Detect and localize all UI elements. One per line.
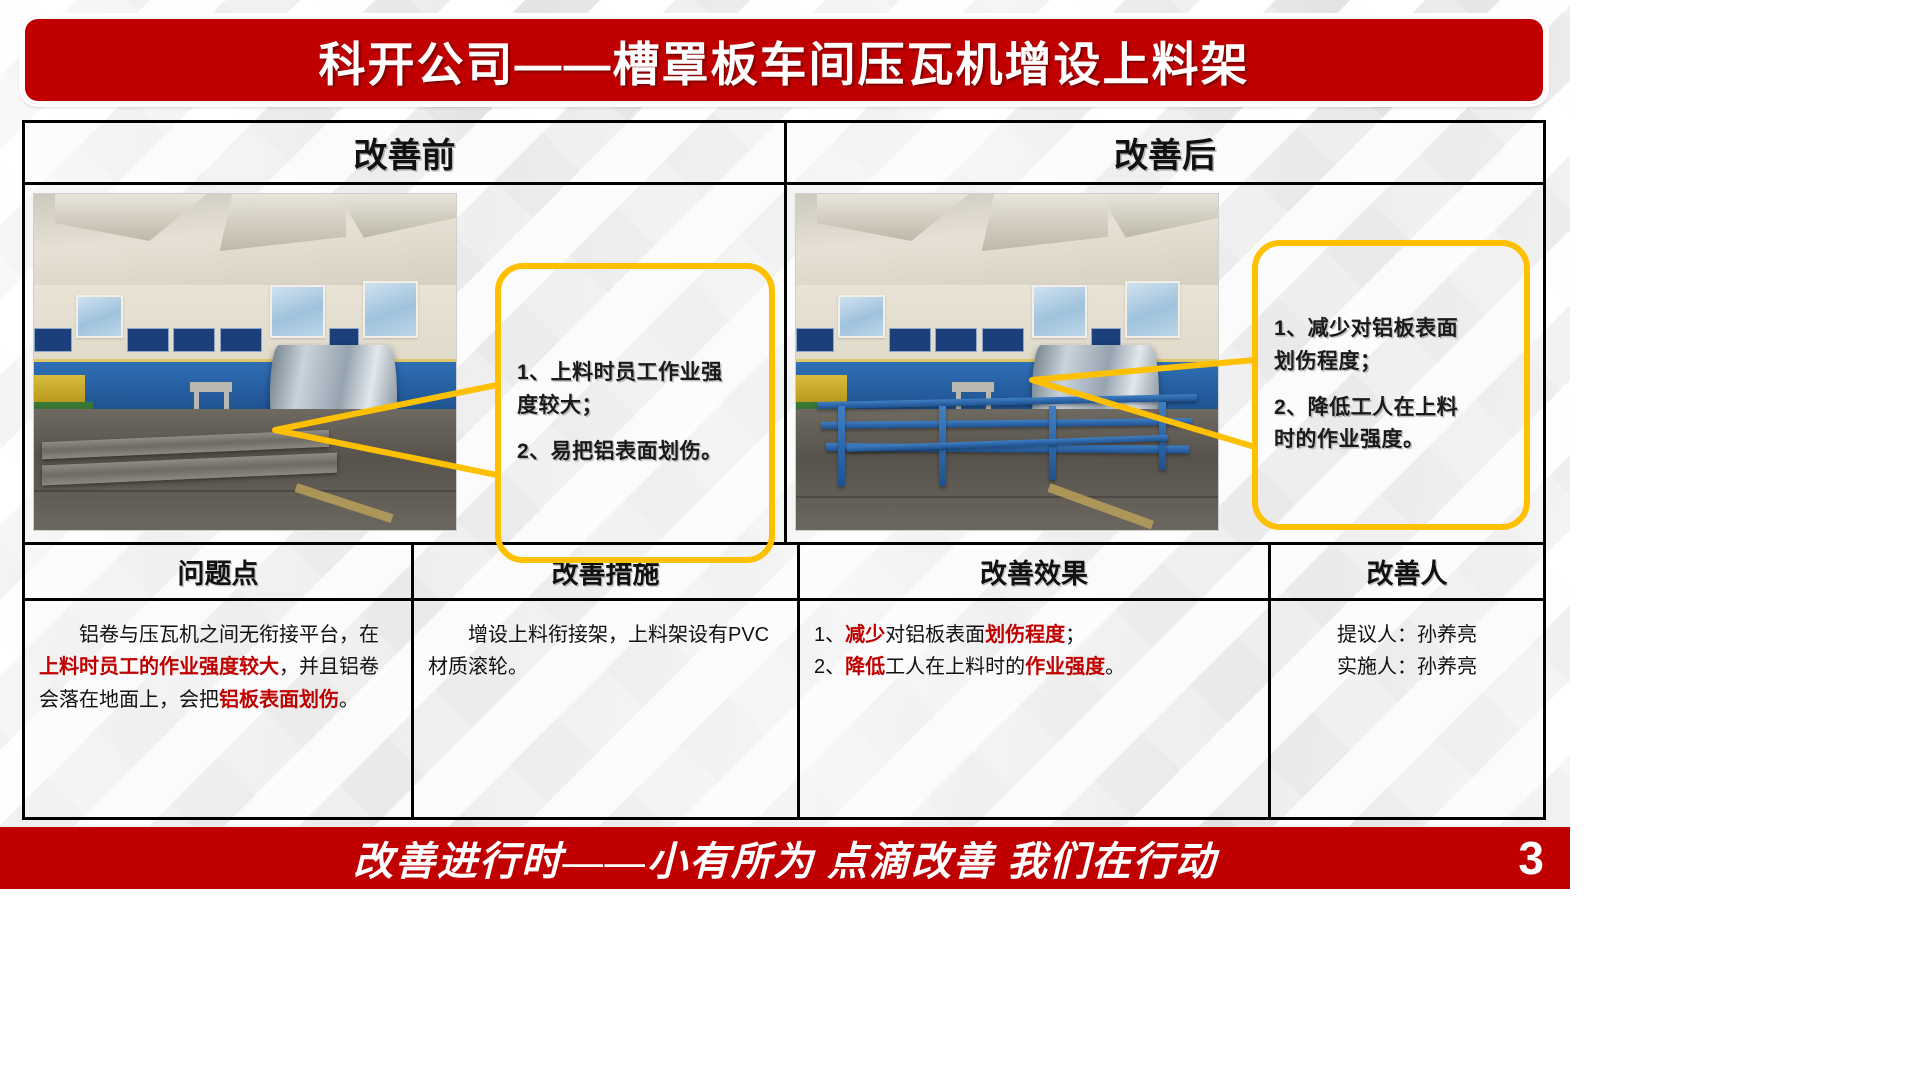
effect-1-num: 1、 (814, 624, 845, 646)
before-callout: 1、上料时员工作业强 度较大； 2、易把铝表面划伤。 (495, 263, 775, 563)
implementer-row: 实施人：孙养亮 (1337, 651, 1477, 683)
proposer-name: 孙养亮 (1417, 624, 1477, 646)
effect-1-mid: 对铝板表面 (885, 624, 985, 646)
person-block: 提议人：孙养亮 实施人：孙养亮 (1337, 619, 1477, 684)
effect-line-2: 2、降低工人在上料时的作业强度。 (814, 651, 1254, 683)
cell-person: 提议人：孙养亮 实施人：孙养亮 (1268, 601, 1543, 817)
before-callout-line-3: 2、易把铝表面划伤。 (517, 437, 753, 467)
measure-text: 增设上料衔接架，上料架设有PVC材质滚轮。 (428, 624, 769, 678)
before-pane: 1、上料时员工作业强 度较大； 2、易把铝表面划伤。 (25, 185, 784, 542)
cell-measure: 增设上料衔接架，上料架设有PVC材质滚轮。 (411, 601, 797, 817)
effect-2-highlight-2: 作业强度 (1025, 656, 1105, 678)
problem-text-highlight-1: 上料时员工的作业强度较大 (39, 656, 279, 678)
problem-text-1: 铝卷与压瓦机之间无衔接平台，在 (79, 624, 379, 646)
footer-banner: 改善进行时——小有所为 点滴改善 我们在行动 3 (0, 827, 1570, 889)
photo-row: 1、上料时员工作业强 度较大； 2、易把铝表面划伤。 (25, 185, 1543, 545)
effect-1-highlight-2: 划伤程度 (985, 624, 1065, 646)
header-after: 改善后 (784, 123, 1543, 182)
proposer-label: 提议人： (1337, 624, 1417, 646)
slide-canvas: 科开公司——槽罩板车间压瓦机增设上料架 改善前 改善后 (0, 0, 1570, 889)
effect-2-end: 。 (1105, 656, 1125, 678)
header-before: 改善前 (25, 123, 784, 182)
page-number: 3 (1518, 831, 1544, 885)
problem-text-highlight-2: 铝板表面划伤 (219, 689, 339, 711)
after-callout-line-3: 2、降低工人在上料 (1274, 393, 1508, 423)
subheader-problem: 问题点 (25, 545, 411, 598)
effect-line-1: 1、减少对铝板表面划伤程度； (814, 619, 1254, 651)
after-callout: 1、减少对铝板表面 划伤程度； 2、降低工人在上料 时的作业强度。 (1252, 240, 1530, 530)
effect-1-end: ； (1065, 624, 1085, 646)
main-content-table: 改善前 改善后 (22, 120, 1546, 820)
after-pane: 1、减少对铝板表面 划伤程度； 2、降低工人在上料 时的作业强度。 (784, 185, 1543, 542)
table-body-row: 铝卷与压瓦机之间无衔接平台，在上料时员工的作业强度较大，并且铝卷会落在地面上，会… (25, 601, 1543, 817)
cell-problem: 铝卷与压瓦机之间无衔接平台，在上料时员工的作业强度较大，并且铝卷会落在地面上，会… (25, 601, 411, 817)
before-callout-line-1: 1、上料时员工作业强 (517, 358, 753, 388)
effect-2-highlight-1: 降低 (845, 656, 885, 678)
footer-slogan: 改善进行时——小有所为 点滴改善 我们在行动 (353, 829, 1217, 887)
before-callout-line-2: 度较大； (517, 391, 753, 421)
after-callout-line-2: 划伤程度； (1274, 347, 1508, 377)
problem-text-3: 。 (339, 689, 359, 711)
page-title: 科开公司——槽罩板车间压瓦机增设上料架 (319, 26, 1250, 95)
proposer-row: 提议人：孙养亮 (1337, 619, 1477, 651)
before-photo (33, 193, 457, 531)
subheader-person: 改善人 (1268, 545, 1543, 598)
after-photo (795, 193, 1219, 531)
subheader-effect: 改善效果 (797, 545, 1268, 598)
table-subheader-row: 问题点 改善措施 改善效果 改善人 (25, 545, 1543, 601)
after-callout-line-1: 1、减少对铝板表面 (1274, 314, 1508, 344)
implementer-name: 孙养亮 (1417, 656, 1477, 678)
implementer-label: 实施人： (1337, 656, 1417, 678)
effect-1-highlight-1: 减少 (845, 624, 885, 646)
cell-effect: 1、减少对铝板表面划伤程度； 2、降低工人在上料时的作业强度。 (797, 601, 1268, 817)
effect-2-num: 2、 (814, 656, 845, 678)
after-callout-line-4: 时的作业强度。 (1274, 425, 1508, 455)
title-banner: 科开公司——槽罩板车间压瓦机增设上料架 (22, 16, 1546, 104)
before-after-header-row: 改善前 改善后 (25, 123, 1543, 185)
effect-2-mid: 工人在上料时的 (885, 656, 1025, 678)
